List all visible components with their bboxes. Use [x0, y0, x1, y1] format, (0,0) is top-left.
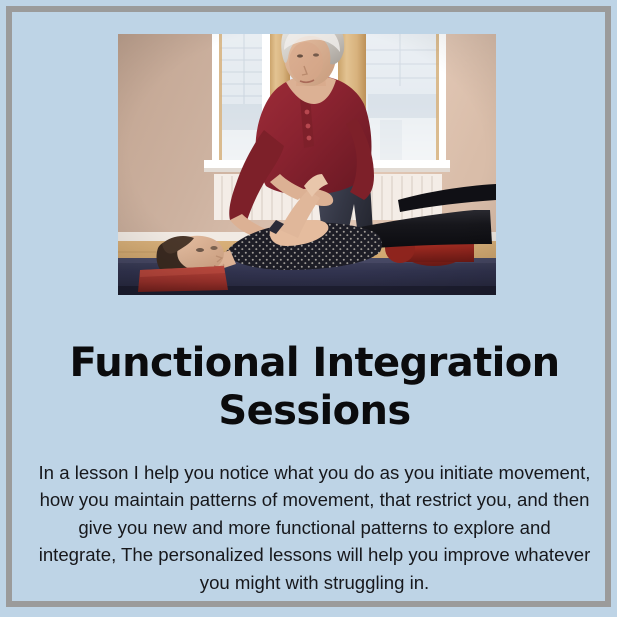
card-inner: Functional Integration Sessions In a les…	[12, 12, 605, 601]
content-card: Functional Integration Sessions In a les…	[6, 6, 611, 607]
session-photo-illustration	[118, 34, 496, 295]
page-title: Functional Integration Sessions	[50, 339, 579, 435]
functional-integration-session-photo	[118, 34, 496, 295]
description-paragraph: In a lesson I help you notice what you d…	[38, 459, 591, 597]
